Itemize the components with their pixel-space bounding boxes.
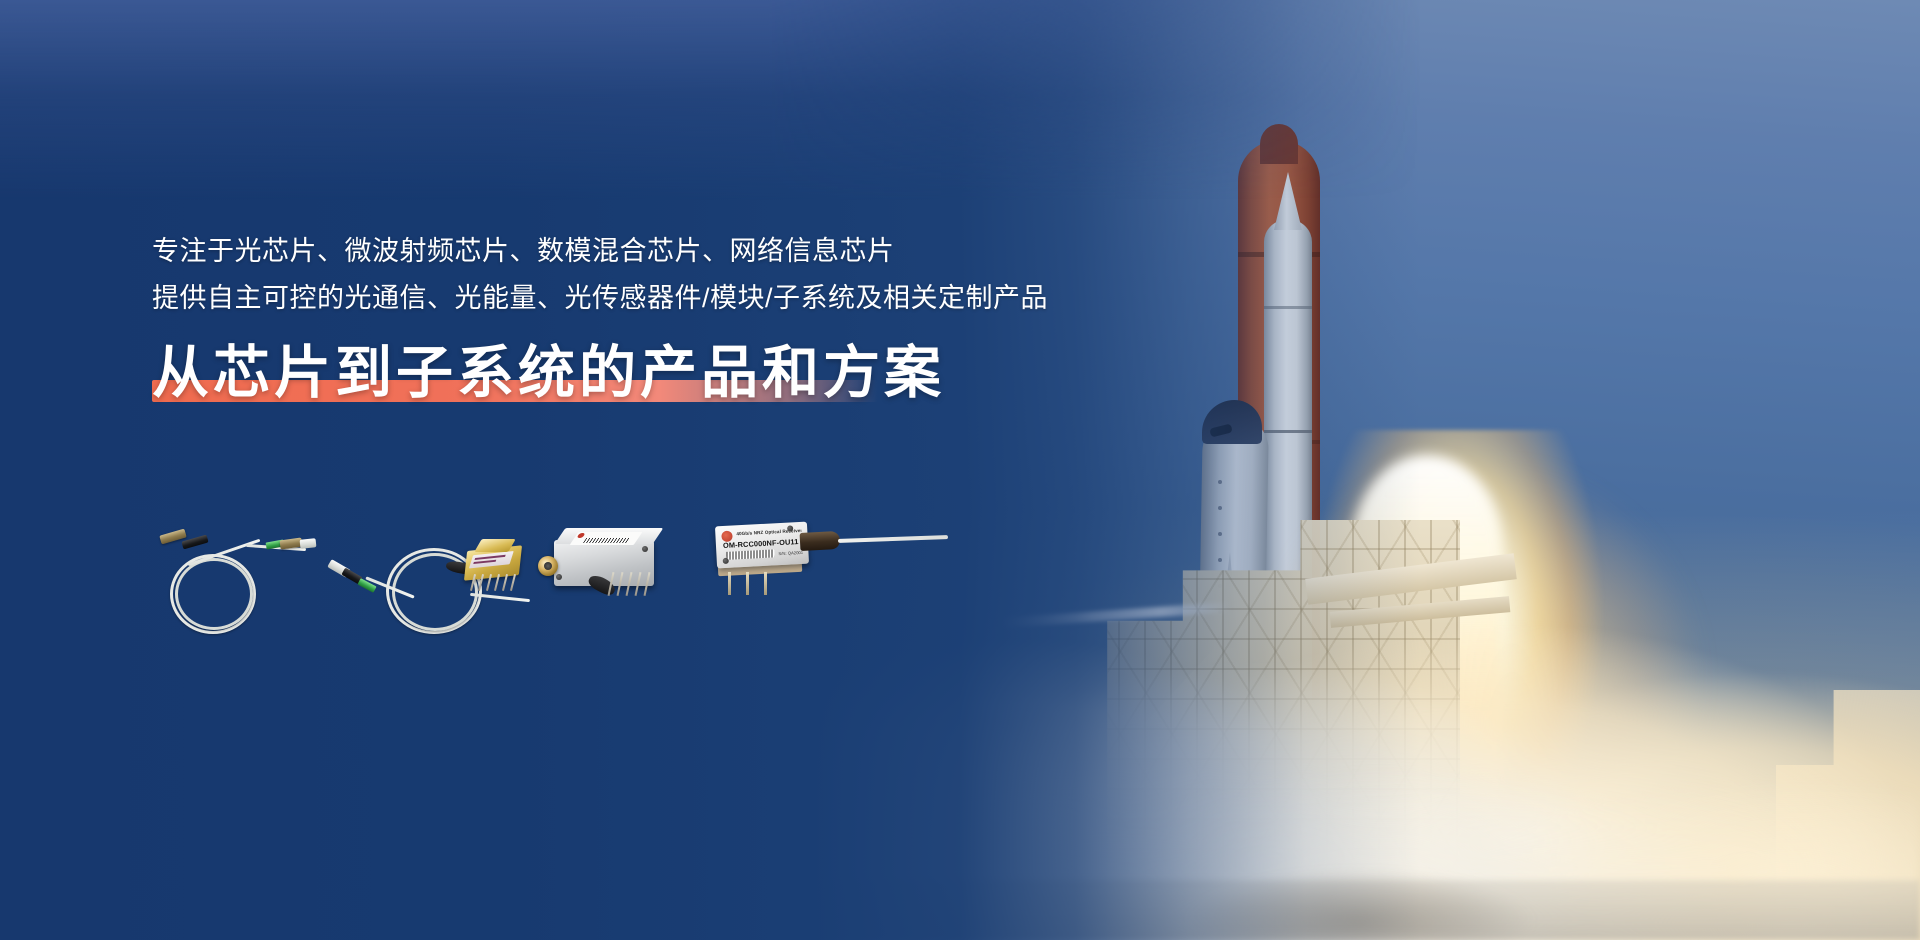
page-title: 从芯片到子系统的产品和方案 xyxy=(152,336,1132,410)
receiver-label: 40Gb/s NRZ Optical Receiver OM-RCC000NF-… xyxy=(721,526,803,564)
fiber-output-lead xyxy=(838,535,948,543)
sma-connector xyxy=(538,556,558,576)
headline-block: 从芯片到子系统的产品和方案 xyxy=(152,336,1132,412)
product-butterfly-laser-diode xyxy=(466,548,546,618)
receiver-housing: 40Gb/s NRZ Optical Receiver OM-RCC000NF-… xyxy=(715,522,809,569)
package-pins xyxy=(470,574,520,592)
subtitle-line-1: 专注于光芯片、微波射频芯片、数模混合芯片、网络信息芯片 xyxy=(152,228,1132,275)
fiber-coil-inner xyxy=(175,558,253,630)
receiver-pins xyxy=(728,572,774,596)
product-optical-receiver: 40Gb/s NRZ Optical Receiver OM-RCC000NF-… xyxy=(716,524,956,634)
package-label xyxy=(469,551,514,568)
product-fiber-pigtail-coil-lc xyxy=(150,530,310,640)
blue-color-overlay xyxy=(0,0,1920,940)
module-label xyxy=(570,532,643,545)
receiver-label-serial: S/N: QA20010590 xyxy=(778,549,802,556)
connector-boot-right xyxy=(300,538,317,549)
product-showcase-row: 40Gb/s NRZ Optical Receiver OM-RCC000NF-… xyxy=(150,530,910,660)
product-rf-optical-module xyxy=(554,540,704,630)
module-pins xyxy=(610,572,664,598)
receiver-label-part-number: OM-RCC000NF-OU11 xyxy=(723,537,799,550)
subtitle-line-2: 提供自主可控的光通信、光能量、光传感器件/模块/子系统及相关定制产品 xyxy=(152,275,1132,322)
housing-screw-2 xyxy=(642,546,648,552)
hero-copy: 专注于光芯片、微波射频芯片、数模混合芯片、网络信息芯片 提供自主可控的光通信、光… xyxy=(152,228,1132,412)
hero-banner: 专注于光芯片、微波射频芯片、数模混合芯片、网络信息芯片 提供自主可控的光通信、光… xyxy=(0,0,1920,940)
fiber-boot-nose xyxy=(800,531,841,551)
barcode xyxy=(726,549,774,560)
housing-screw-1 xyxy=(556,574,562,580)
